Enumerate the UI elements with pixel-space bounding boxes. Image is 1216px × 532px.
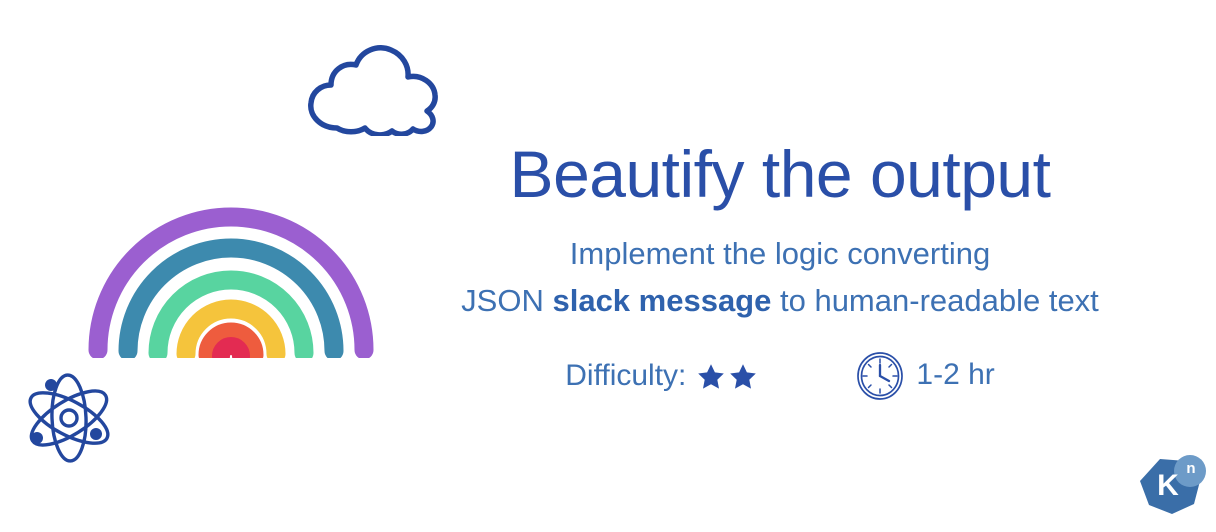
- star-icon: [728, 362, 758, 392]
- subtitle-suffix: to human-readable text: [771, 283, 1098, 318]
- text-content: Beautify the output Implement the logic …: [400, 140, 1160, 402]
- difficulty-label: Difficulty:: [565, 359, 686, 393]
- subtitle-prefix: JSON: [461, 283, 552, 318]
- duration-meta: 1-2 hr: [854, 350, 994, 402]
- cloud-icon: [303, 40, 445, 136]
- clock-icon: [854, 350, 906, 402]
- subtitle-emphasis: slack message: [552, 283, 771, 318]
- slide-canvas: Beautify the output Implement the logic …: [0, 0, 1216, 532]
- meta-row: Difficulty:: [400, 350, 1160, 402]
- atom-icon: [20, 368, 118, 468]
- rainbow-icon: [86, 190, 376, 358]
- subtitle-line-2: JSON slack message to human-readable tex…: [400, 278, 1160, 325]
- logo-letter-n: n: [1178, 461, 1204, 476]
- subtitle: Implement the logic converting JSON slac…: [400, 231, 1160, 324]
- subtitle-line-1: Implement the logic converting: [400, 231, 1160, 278]
- duration-label: 1-2 hr: [916, 358, 994, 392]
- difficulty-rating: [696, 362, 758, 392]
- star-icon: [696, 362, 726, 392]
- kn-logo[interactable]: K n: [1136, 455, 1208, 523]
- page-title: Beautify the output: [400, 140, 1160, 209]
- difficulty-meta: Difficulty:: [565, 359, 758, 393]
